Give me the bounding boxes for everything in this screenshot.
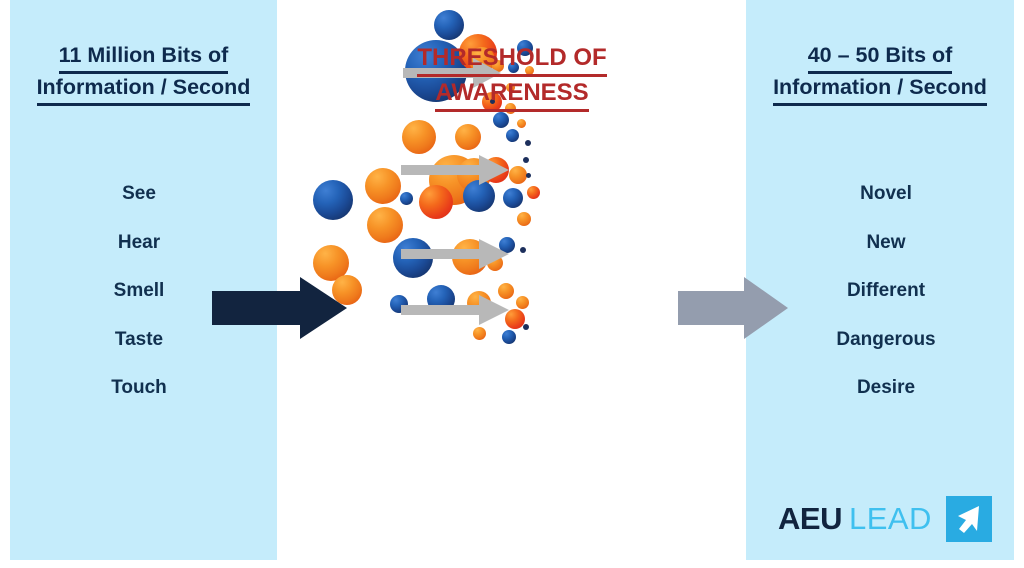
sense-list: See Hear Smell Taste Touch: [10, 183, 268, 426]
filter-item: New: [752, 232, 1020, 254]
left-panel-title: 11 Million Bits of Information / Second: [10, 42, 277, 106]
filter-item: Desire: [752, 377, 1020, 399]
filter-arrow-2: [401, 153, 511, 187]
aeu-lead-logo: AEU LEAD: [778, 497, 992, 541]
bubble-orange: [367, 207, 403, 243]
slide-canvas: 11 Million Bits of Information / Second …: [0, 0, 1024, 568]
center-title-line-1: THRESHOLD OF: [417, 42, 606, 77]
logo-text-primary: AEU: [778, 501, 842, 537]
bubble-blue: [493, 112, 509, 128]
left-title-line-1: 11 Million Bits of: [59, 42, 229, 74]
particle-navy: [526, 173, 531, 178]
particle-navy: [525, 140, 531, 146]
filter-arrow-4: [401, 293, 511, 327]
filter-item: Dangerous: [752, 329, 1020, 351]
bubble-orange: [517, 119, 526, 128]
right-panel-title: 40 – 50 Bits of Information / Second: [746, 42, 1014, 106]
particle-navy: [523, 157, 529, 163]
sense-item: Taste: [10, 329, 268, 351]
bubble-orange: [455, 124, 481, 150]
bubble-blue: [502, 330, 516, 344]
sense-item: Smell: [10, 280, 268, 302]
arrow-mark-icon: [946, 496, 992, 542]
bubble-orange: [473, 327, 486, 340]
particle-navy: [523, 324, 529, 330]
bubble-orange: [509, 166, 527, 184]
sense-item: Touch: [10, 377, 268, 399]
logo-text-secondary: LEAD: [849, 501, 932, 537]
filter-arrow-3: [401, 237, 511, 271]
bubble-orange: [365, 168, 401, 204]
center-title-line-2: AWARENESS: [435, 77, 588, 112]
right-title-line-1: 40 – 50 Bits of: [808, 42, 953, 74]
bubble-orange: [419, 185, 453, 219]
bubble-orange: [402, 120, 436, 154]
bubble-orange: [516, 296, 529, 309]
right-title-line-2: Information / Second: [773, 74, 987, 106]
filter-list: Novel New Different Dangerous Desire: [752, 183, 1020, 426]
bubble-blue: [506, 129, 519, 142]
bubble-blue: [400, 192, 413, 205]
bubble-blue: [313, 180, 353, 220]
left-title-line-2: Information / Second: [37, 74, 251, 106]
bubble-blue: [434, 10, 464, 40]
filter-item: Novel: [752, 183, 1020, 205]
bubble-blue: [503, 188, 523, 208]
filter-item: Different: [752, 280, 1020, 302]
bubble-orange: [527, 186, 540, 199]
sense-item: Hear: [10, 232, 268, 254]
sense-item: See: [10, 183, 268, 205]
particle-navy: [520, 247, 526, 253]
center-title: THRESHOLD OF AWARENESS: [290, 42, 734, 112]
bubble-orange: [517, 212, 531, 226]
